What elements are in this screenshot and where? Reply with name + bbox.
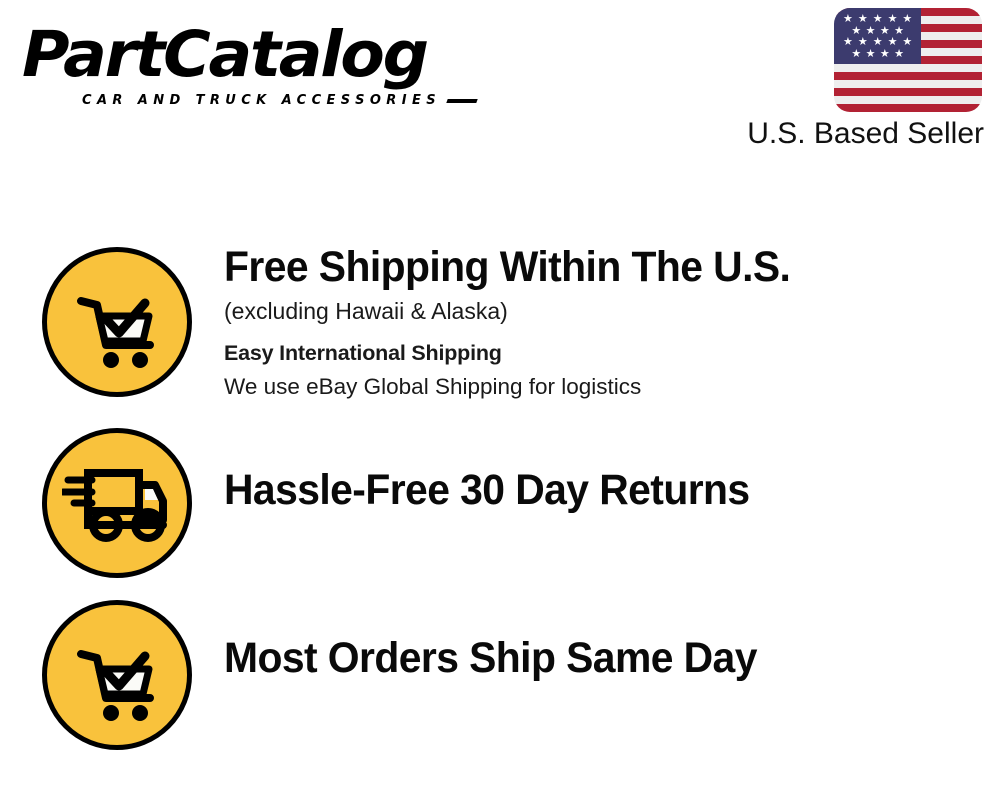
brand-logo[interactable]: PartCatalog CAR AND TRUCK ACCESSORIES bbox=[22, 22, 492, 117]
brand-underline-accent bbox=[446, 99, 477, 103]
delivery-truck-icon bbox=[42, 428, 192, 578]
feature-list: Free Shipping Within The U.S. (excluding… bbox=[0, 228, 1000, 757]
brand-tagline-row: CAR AND TRUCK ACCESSORIES bbox=[82, 93, 502, 108]
shopping-cart-check-icon bbox=[42, 247, 192, 397]
shopping-cart-check-icon bbox=[42, 600, 192, 750]
feature-headline: Free Shipping Within The U.S. bbox=[224, 242, 790, 292]
brand-wordmark: PartCatalog bbox=[22, 22, 506, 88]
us-based-seller-label: U.S. Based Seller bbox=[718, 116, 988, 152]
feature-row: Free Shipping Within The U.S. (excluding… bbox=[0, 228, 1000, 413]
page-header: PartCatalog CAR AND TRUCK ACCESSORIES bbox=[0, 0, 1000, 170]
feature-subline-detail: We use eBay Global Shipping for logistic… bbox=[224, 370, 820, 404]
flag-canton: ★★★★★ ★★★★ ★★★★★ ★★★★ bbox=[834, 8, 921, 64]
feature-text: Hassle-Free 30 Day Returns bbox=[224, 413, 777, 515]
us-flag-icon: ★★★★★ ★★★★ ★★★★★ ★★★★ bbox=[834, 8, 982, 112]
feature-subline-bold: Easy International Shipping bbox=[224, 336, 820, 370]
feature-headline: Hassle-Free 30 Day Returns bbox=[224, 465, 750, 515]
feature-text: Most Orders Ship Same Day bbox=[224, 585, 785, 683]
feature-subline: (excluding Hawaii & Alaska) bbox=[224, 294, 820, 328]
feature-row: Most Orders Ship Same Day bbox=[0, 585, 1000, 757]
us-based-seller-badge: ★★★★★ ★★★★ ★★★★★ ★★★★ U.S. Based Seller bbox=[718, 8, 988, 152]
feature-headline: Most Orders Ship Same Day bbox=[224, 633, 757, 683]
feature-text: Free Shipping Within The U.S. (excluding… bbox=[224, 228, 820, 404]
brand-tagline: CAR AND TRUCK ACCESSORIES bbox=[82, 93, 441, 108]
feature-row: Hassle-Free 30 Day Returns bbox=[0, 413, 1000, 585]
